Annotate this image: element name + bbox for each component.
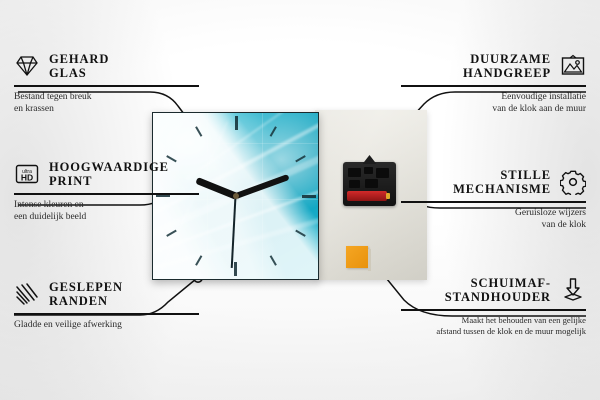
- ultra-hd-icon: ultra HD: [14, 161, 40, 187]
- picture-frame-icon: [560, 53, 586, 79]
- feature-hoogwaardige-print: ultra HD HOOGWAARDIGE PRINT Intense kleu…: [14, 160, 199, 223]
- divider: [14, 193, 199, 195]
- divider: [401, 309, 586, 311]
- divider: [401, 85, 586, 87]
- feature-header: ultra HD HOOGWAARDIGE PRINT: [14, 160, 199, 188]
- feature-header: GEHARD GLAS: [14, 52, 199, 80]
- infographic-stage: GEHARD GLAS Bestand tegen breuk en krass…: [0, 0, 600, 400]
- feature-title: GESLEPEN RANDEN: [49, 280, 123, 308]
- feature-title: GEHARD GLAS: [49, 52, 109, 80]
- divider: [14, 313, 199, 315]
- feature-header: STILLE MECHANISME: [401, 168, 586, 196]
- feature-description: Gladde en veilige afwerking: [14, 319, 199, 331]
- feature-stille-mechanisme: STILLE MECHANISME Geruisloze wijzers van…: [401, 168, 586, 231]
- battery-terminal: [386, 193, 390, 199]
- arrow-down-pad-icon: [560, 277, 586, 303]
- hatched-edge-icon: [14, 281, 40, 307]
- feature-description: Maakt het behouden van een gelijke afsta…: [401, 315, 586, 337]
- feature-schuimafstandhouder: SCHUIMAF- STANDHOUDER Maakt het behouden…: [401, 276, 586, 337]
- clock-mechanism: [343, 162, 396, 206]
- feature-description: Intense kleuren en een duidelijk beeld: [14, 199, 199, 223]
- feature-geslepen-randen: GESLEPEN RANDEN Gladde en veilige afwerk…: [14, 280, 199, 331]
- feature-title: STILLE MECHANISME: [453, 168, 551, 196]
- feature-title: HOOGWAARDIGE PRINT: [49, 160, 169, 188]
- feature-header: SCHUIMAF- STANDHOUDER: [401, 276, 586, 304]
- feature-description: Bestand tegen breuk en krassen: [14, 91, 199, 115]
- mechanism-block: [364, 167, 373, 174]
- diamond-icon: [14, 53, 40, 79]
- feature-title: DUURZAME HANDGREEP: [463, 52, 551, 80]
- feature-header: GESLEPEN RANDEN: [14, 280, 199, 308]
- battery: [347, 191, 387, 201]
- foam-spacer-pad: [346, 246, 368, 268]
- divider: [14, 85, 199, 87]
- mechanism-block: [349, 180, 360, 188]
- mechanism-block: [376, 168, 389, 178]
- divider: [401, 201, 586, 203]
- feature-gehard-glas: GEHARD GLAS Bestand tegen breuk en krass…: [14, 52, 199, 115]
- svg-text:HD: HD: [21, 173, 33, 183]
- gear-icon: [560, 169, 586, 195]
- mechanism-block: [365, 179, 378, 188]
- feature-duurzame-handgreep: DUURZAME HANDGREEP Eenvoudige installati…: [401, 52, 586, 115]
- feature-title: SCHUIMAF- STANDHOUDER: [445, 276, 551, 304]
- clock-center-pin: [233, 193, 239, 199]
- feature-header: DUURZAME HANDGREEP: [401, 52, 586, 80]
- feature-description: Geruisloze wijzers van de klok: [401, 207, 586, 231]
- mechanism-block: [348, 168, 361, 177]
- feature-description: Eenvoudige installatie van de klok aan d…: [401, 91, 586, 115]
